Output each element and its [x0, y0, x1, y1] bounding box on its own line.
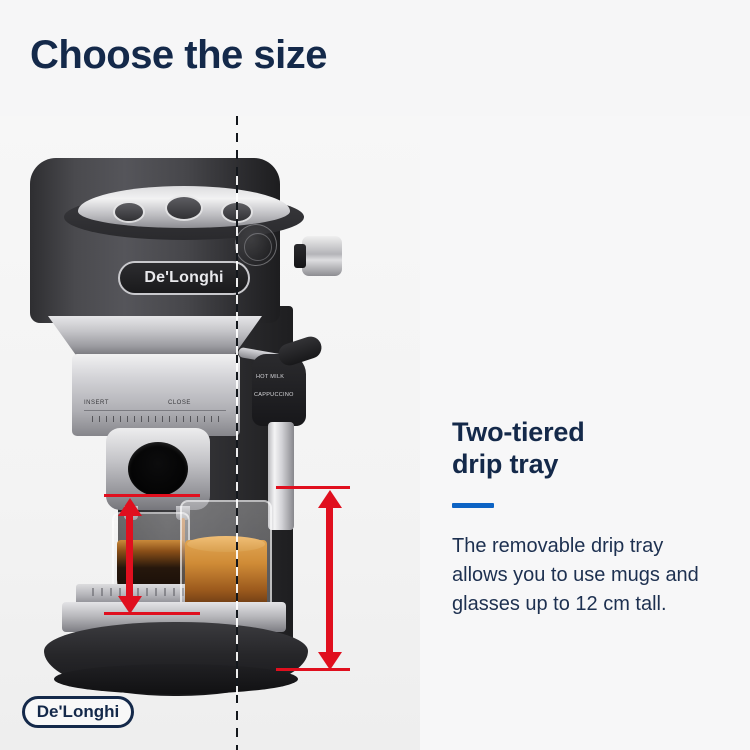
steam-wand-body: [252, 354, 306, 426]
control-button-left-icon: [115, 203, 143, 221]
measure-shaft-right: [326, 504, 333, 656]
steam-knob: [302, 236, 342, 276]
machine-chrome-shoulder: [48, 316, 262, 358]
feature-panel: Two-tiered drip tray The removable drip …: [452, 416, 722, 619]
control-button-center-icon: [167, 197, 201, 219]
product-illustration-stage: De'Longhi INSERT CLOSE HOT MILK CAPPUCCI…: [0, 116, 750, 750]
machine-brand-badge: De'Longhi: [118, 261, 250, 295]
machine-group-head: INSERT CLOSE: [72, 354, 240, 436]
delonghi-logo: De'Longhi: [22, 696, 134, 728]
measure-tick-top-left: [104, 494, 200, 497]
feature-title: Two-tiered drip tray: [452, 416, 722, 481]
feature-description: The removable drip tray allows you to us…: [452, 532, 722, 619]
machine-top-body: De'Longhi: [30, 158, 280, 323]
measure-tick-bottom-right: [276, 668, 350, 671]
steam-wand-cappuccino-label: CAPPUCCINO: [254, 392, 294, 398]
grouphead-insert-label: INSERT: [84, 400, 109, 406]
portafilter-opening: [128, 442, 188, 496]
steam-wand-hot-milk-label: HOT MILK: [256, 374, 284, 380]
measure-shaft-left: [126, 512, 133, 600]
grouphead-close-label: CLOSE: [168, 400, 191, 406]
feature-accent-rule: [452, 503, 494, 508]
feature-title-line-1: Two-tiered: [452, 416, 722, 448]
machine-brand-badge-label: De'Longhi: [144, 269, 223, 287]
feature-title-line-2: drip tray: [452, 448, 722, 480]
espresso-machine-illustration: De'Longhi INSERT CLOSE HOT MILK CAPPUCCI…: [0, 116, 420, 750]
grouphead-tick-marks: [92, 416, 222, 422]
measure-tick-bottom-left: [104, 612, 200, 615]
delonghi-logo-text: De'Longhi: [37, 702, 119, 722]
measure-tick-top-right: [276, 486, 350, 489]
machine-base-foot: [54, 664, 298, 694]
page-header: Choose the size: [0, 0, 750, 116]
machine-emblem-icon: [235, 224, 277, 266]
comparison-divider-line-highlight: [236, 176, 238, 696]
page-title: Choose the size: [30, 33, 327, 77]
tall-glass-crema: [187, 536, 265, 552]
